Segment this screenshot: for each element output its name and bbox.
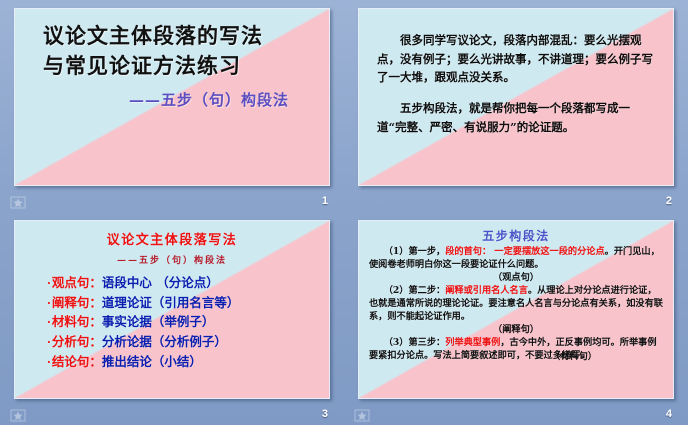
slide-3-page-number: 3 — [322, 409, 328, 420]
slide-3-list: ·观点句：语段中心 （分论点） ·阐释句：道理论证（引用名言等） ·材料句：事实… — [25, 273, 319, 372]
list-item-key: 结论句： — [52, 354, 102, 369]
step-3-highlight: 列举典型事例 — [445, 337, 500, 348]
list-item-value: 语段中心 （分论点） — [102, 275, 219, 290]
list-item: ·材料句：事实论据（举例子） — [25, 312, 319, 332]
slide-1-subtitle: ——五步（句）构段法 — [29, 89, 315, 110]
step-2-tag: （阐释句） — [369, 323, 663, 337]
slide-4-title: 五步构段法 — [369, 227, 663, 244]
step-2-highlight: 阐释或引用名人名言 — [445, 285, 528, 296]
list-item: ·观点句：语段中心 （分论点） — [25, 273, 319, 293]
bullet-dot-icon: · — [47, 316, 51, 329]
list-item: ·结论句：推出结论（小结） — [25, 352, 319, 372]
step-1-tag: （观点句） — [369, 271, 663, 285]
slide-1-content: 议论文主体段落的写法 与常见论证方法练习 ——五步（句）构段法 — [15, 9, 329, 185]
star-emblem-icon — [354, 408, 372, 422]
list-item-key: 阐释句： — [52, 295, 102, 310]
slide-2-page-number: 2 — [666, 196, 672, 207]
bullet-dot-icon: · — [47, 356, 51, 369]
list-item-value: 推出结论（小结） — [102, 354, 202, 369]
slide-3-title: 议论文主体段落写法 — [25, 229, 319, 248]
slide-2-paragraph-2: 五步构段法，就是帮你把每一个段落都写成一道“完整、严密、有说服力”的论证题。 — [377, 99, 655, 136]
slide-2[interactable]: 很多同学写议论文，段落内部混乱：要么光摆观点，没有例子；要么光讲故事，不讲道理；… — [358, 8, 674, 186]
slide-cell-3[interactable]: 议论文主体段落写法 ——五步（句）构段法 ·观点句：语段中心 （分论点） ·阐释… — [0, 212, 344, 425]
star-emblem-icon — [10, 195, 28, 209]
bullet-dot-icon: · — [47, 297, 51, 310]
step-1-prefix: （1）第一步， — [384, 246, 446, 257]
slide-cell-1[interactable]: 议论文主体段落的写法 与常见论证方法练习 ——五步（句）构段法 1 — [0, 0, 344, 212]
slide-handout-page: 议论文主体段落的写法 与常见论证方法练习 ——五步（句）构段法 1 很多同学写议 — [0, 0, 688, 425]
slide-2-paragraph-1: 很多同学写议论文，段落内部混乱：要么光摆观点，没有例子；要么光讲故事，不讲道理；… — [377, 31, 655, 87]
slide-3-subtitle: ——五步（句）构段法 — [25, 253, 319, 266]
slide-4-step-1: （1）第一步，段的首句： 一定要摆放这一段的分论点。开门见山，使阅卷老师明白你这… — [369, 246, 663, 271]
list-item-value: 事实论据（举例子） — [102, 314, 215, 329]
slide-1-title: 议论文主体段落的写法 与常见论证方法练习 — [29, 21, 315, 82]
slide-4[interactable]: 五步构段法 （1）第一步，段的首句： 一定要摆放这一段的分论点。开门见山，使阅卷… — [358, 220, 674, 399]
slide-1-title-line-2: 与常见论证方法练习 — [43, 51, 315, 81]
list-item: ·分析句：分析论据（分析例子） — [25, 332, 319, 352]
slide-cell-4[interactable]: 五步构段法 （1）第一步，段的首句： 一定要摆放这一段的分论点。开门见山，使阅卷… — [344, 212, 688, 425]
list-item-key: 观点句： — [52, 275, 102, 290]
list-item-key: 分析句： — [52, 334, 102, 349]
slide-grid: 议论文主体段落的写法 与常见论证方法练习 ——五步（句）构段法 1 很多同学写议 — [0, 0, 688, 425]
slide-4-page-number: 4 — [666, 409, 672, 420]
bullet-dot-icon: · — [47, 277, 51, 290]
slide-4-content: 五步构段法 （1）第一步，段的首句： 一定要摆放这一段的分论点。开门见山，使阅卷… — [359, 221, 673, 398]
step-2-prefix: （2）第二步： — [384, 285, 446, 296]
list-item-value: 道理论证（引用名言等） — [102, 295, 240, 310]
step-1-highlight: 段的首句： 一定要摆放这一段的分论点 — [445, 246, 604, 257]
step-3-prefix: （3）第三步： — [384, 337, 446, 348]
star-emblem-icon — [10, 408, 28, 422]
slide-3[interactable]: 议论文主体段落写法 ——五步（句）构段法 ·观点句：语段中心 （分论点） ·阐释… — [14, 220, 330, 399]
slide-4-step-2: （2）第二步：阐释或引用名人名言。从理论上对分论点进行论证，也就是通常所说的理论… — [369, 285, 663, 323]
list-item: ·阐释句：道理论证（引用名言等） — [25, 293, 319, 313]
list-item-value: 分析论据（分析例子） — [102, 334, 227, 349]
slide-1-title-line-1: 议论文主体段落的写法 — [43, 21, 315, 51]
slide-1[interactable]: 议论文主体段落的写法 与常见论证方法练习 ——五步（句）构段法 — [14, 8, 330, 186]
slide-1-page-number: 1 — [322, 196, 328, 207]
list-item-key: 材料句： — [52, 314, 102, 329]
slide-2-content: 很多同学写议论文，段落内部混乱：要么光摆观点，没有例子；要么光讲故事，不讲道理；… — [359, 9, 673, 185]
slide-cell-2[interactable]: 很多同学写议论文，段落内部混乱：要么光摆观点，没有例子；要么光讲故事，不讲道理；… — [344, 0, 688, 212]
slide-3-content: 议论文主体段落写法 ——五步（句）构段法 ·观点句：语段中心 （分论点） ·阐释… — [15, 221, 329, 398]
bullet-dot-icon: · — [47, 336, 51, 349]
